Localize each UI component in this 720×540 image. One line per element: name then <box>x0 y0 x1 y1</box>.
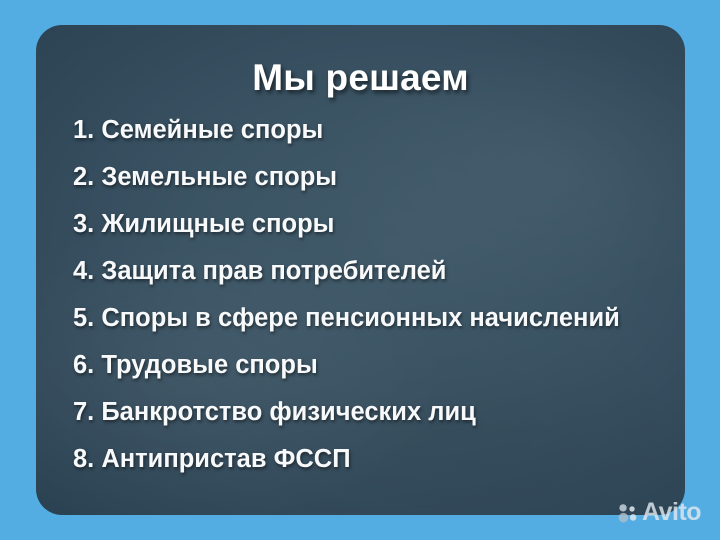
list-item: 4. Защита прав потребителей <box>73 248 673 295</box>
list-item: 3. Жилищные споры <box>73 201 673 248</box>
content-card: Мы решаем 1. Семейные споры 2. Земельные… <box>36 25 685 515</box>
list-item: 7. Банкротство физических лиц <box>73 389 673 436</box>
avito-watermark: Avito <box>617 500 701 525</box>
services-list: 1. Семейные споры 2. Земельные споры 3. … <box>73 107 673 483</box>
list-item: 2. Земельные споры <box>73 154 673 201</box>
list-item: 8. Антипристав ФССП <box>73 436 673 483</box>
list-item: 6. Трудовые споры <box>73 342 673 389</box>
list-item: 1. Семейные споры <box>73 107 673 154</box>
page-title: Мы решаем <box>36 57 685 99</box>
slide-canvas: Мы решаем 1. Семейные споры 2. Земельные… <box>0 0 720 540</box>
avito-wordmark: Avito <box>642 500 701 525</box>
avito-dots-icon <box>617 502 639 524</box>
list-item: 5. Споры в сфере пенсионных начислений <box>73 295 673 342</box>
